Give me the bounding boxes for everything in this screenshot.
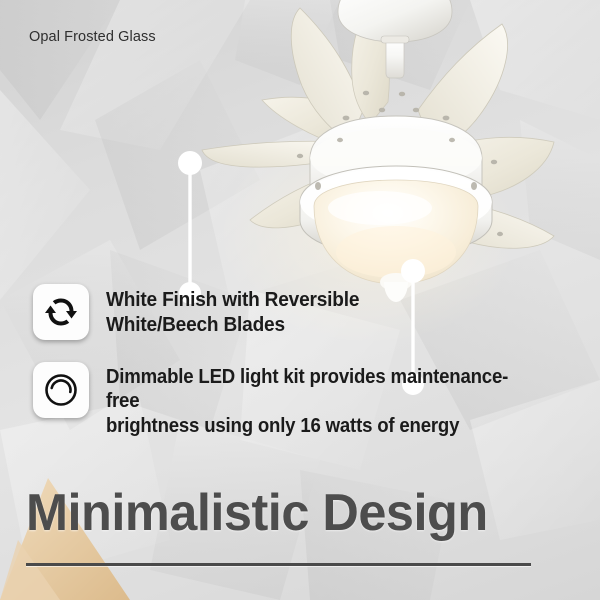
feature-text-reversible-blades: White Finish with Reversible White/Beech… — [106, 284, 359, 337]
dimmer-dial-icon-box — [33, 362, 89, 418]
reversible-arrows-icon — [42, 293, 80, 331]
feature-list: White Finish with Reversible White/Beech… — [33, 284, 573, 460]
feature-row-reversible-blades: White Finish with Reversible White/Beech… — [33, 284, 573, 340]
opal-frosted-glass-label: Opal Frosted Glass — [29, 29, 156, 45]
reversible-arrows-icon-box — [33, 284, 89, 340]
feature-text-dimmable-led: Dimmable LED light kit provides maintena… — [106, 362, 540, 438]
headline-minimalistic-design: Minimalistic Design — [26, 487, 488, 539]
downrod — [386, 38, 404, 78]
pull-chain-ball — [401, 259, 425, 283]
dimmer-dial-icon — [42, 371, 80, 409]
headline-underline-rule — [26, 563, 531, 566]
product-infographic: Opal Frosted Glass White Finish with Rev… — [0, 0, 600, 600]
pull-chain-ball — [178, 151, 202, 175]
feature-row-dimmable-led: Dimmable LED light kit provides maintena… — [33, 362, 573, 438]
